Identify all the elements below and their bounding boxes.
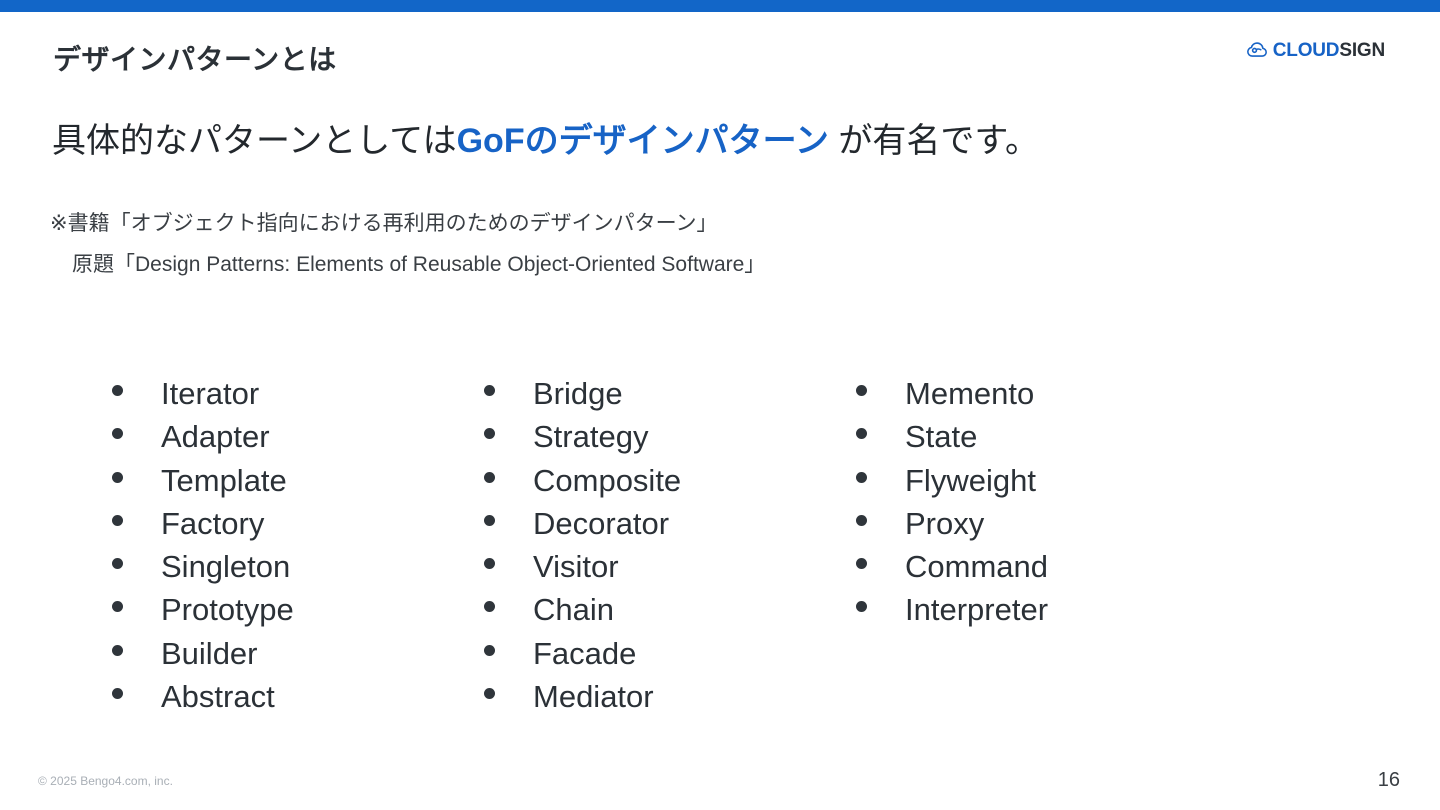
pattern-columns: Iterator Adapter Template Factory Single… (112, 378, 1048, 724)
pattern-label: Builder (161, 638, 258, 669)
bullet-icon (484, 609, 533, 620)
list-item: Visitor (484, 551, 856, 594)
headline-prefix: 具体的なパターンとしては (52, 122, 457, 160)
note-line-book-title: ※書籍「オブジェクト指向における再利用のためのデザインパターン」 (50, 204, 765, 245)
pattern-label: Bridge (533, 378, 623, 409)
cloud-icon (1246, 39, 1268, 61)
bullet-icon (112, 566, 161, 577)
bullet-icon (484, 436, 533, 447)
list-item: Memento (856, 378, 1048, 421)
pattern-label: Template (161, 465, 287, 496)
pattern-label: Strategy (533, 421, 648, 452)
bullet-icon (112, 480, 161, 491)
bullet-icon (112, 609, 161, 620)
list-item: Facade (484, 638, 856, 681)
pattern-label: Abstract (161, 681, 275, 712)
pattern-label: Prototype (161, 594, 294, 625)
pattern-label: Adapter (161, 421, 270, 452)
pattern-label: State (905, 421, 977, 452)
logo-text-cloud: CLOUD (1273, 40, 1340, 61)
list-item: Abstract (112, 681, 484, 724)
pattern-label: Proxy (905, 508, 984, 539)
pattern-label: Iterator (161, 378, 259, 409)
list-item: Flyweight (856, 465, 1048, 508)
list-item: Proxy (856, 508, 1048, 551)
pattern-label: Chain (533, 594, 614, 625)
pattern-label: Flyweight (905, 465, 1036, 496)
bullet-icon (484, 653, 533, 664)
note-line-original-title: 原題「Design Patterns: Elements of Reusable… (50, 245, 765, 286)
pattern-column-2: Bridge Strategy Composite Decorator Visi… (484, 378, 856, 724)
list-item: Mediator (484, 681, 856, 724)
list-item: Iterator (112, 378, 484, 421)
pattern-label: Mediator (533, 681, 654, 712)
logo-text-sign: SIGN (1339, 40, 1385, 61)
logo-wordmark: CLOUDSIGN (1273, 41, 1385, 60)
bullet-icon (112, 523, 161, 534)
bullet-icon (856, 609, 905, 620)
top-accent-bar (0, 0, 1440, 12)
list-item: Factory (112, 508, 484, 551)
bullet-icon (112, 653, 161, 664)
bullet-icon (856, 393, 905, 404)
list-item: Chain (484, 594, 856, 637)
page-number: 16 (1378, 769, 1400, 792)
list-item: Bridge (484, 378, 856, 421)
bullet-icon (484, 480, 533, 491)
notes-block: ※書籍「オブジェクト指向における再利用のためのデザインパターン」 原題「Desi… (50, 204, 765, 286)
pattern-label: Visitor (533, 551, 619, 582)
pattern-label: Decorator (533, 508, 669, 539)
copyright-text: © 2025 Bengo4.com, inc. (38, 774, 173, 788)
pattern-label: Singleton (161, 551, 290, 582)
pattern-label: Facade (533, 638, 636, 669)
pattern-label: Composite (533, 465, 681, 496)
pattern-label: Interpreter (905, 594, 1048, 625)
pattern-column-3: Memento State Flyweight Proxy Command In… (856, 378, 1048, 724)
bullet-icon (112, 393, 161, 404)
list-item: Prototype (112, 594, 484, 637)
page-title: デザインパターンとは (53, 38, 337, 78)
bullet-icon (484, 393, 533, 404)
pattern-column-1: Iterator Adapter Template Factory Single… (112, 378, 484, 724)
headline-accent: GoFのデザインパターン (457, 122, 829, 160)
slide: デザインパターンとは CLOUDSIGN 具体的なパターンとしてはGoFのデザイ… (0, 0, 1440, 810)
list-item: Adapter (112, 421, 484, 464)
list-item: Template (112, 465, 484, 508)
pattern-label: Memento (905, 378, 1034, 409)
bullet-icon (112, 436, 161, 447)
pattern-label: Factory (161, 508, 264, 539)
list-item: Builder (112, 638, 484, 681)
bullet-icon (856, 523, 905, 534)
list-item: Singleton (112, 551, 484, 594)
bullet-icon (856, 436, 905, 447)
list-item: Composite (484, 465, 856, 508)
headline: 具体的なパターンとしてはGoFのデザインパターン が有名です。 (52, 120, 1039, 163)
bullet-icon (112, 696, 161, 707)
list-item: State (856, 421, 1048, 464)
list-item: Command (856, 551, 1048, 594)
bullet-icon (484, 696, 533, 707)
list-item: Decorator (484, 508, 856, 551)
bullet-icon (856, 566, 905, 577)
pattern-label: Command (905, 551, 1048, 582)
list-item: Strategy (484, 421, 856, 464)
headline-suffix: が有名です。 (829, 122, 1039, 160)
bullet-icon (484, 523, 533, 534)
bullet-icon (856, 480, 905, 491)
bullet-icon (484, 566, 533, 577)
list-item: Interpreter (856, 594, 1048, 637)
cloudsign-logo: CLOUDSIGN (1246, 38, 1385, 62)
